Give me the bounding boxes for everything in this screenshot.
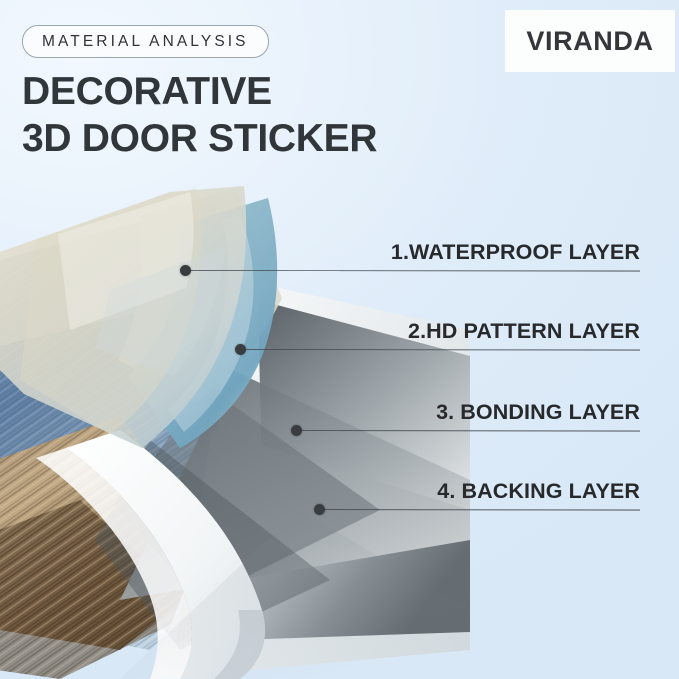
layer-dot-2[interactable] (235, 344, 246, 355)
brand-name: VIRANDA (526, 26, 653, 57)
callout-hd-pattern-layer: 2.HD PATTERN LAYER (339, 311, 679, 351)
eyebrow-label: MATERIAL ANALYSIS (42, 33, 249, 51)
brand-logo-box: VIRANDA (505, 10, 675, 72)
leader-line-4 (324, 509, 640, 510)
layer-dot-3[interactable] (291, 425, 302, 436)
layer-dot-1[interactable] (180, 265, 191, 276)
callout-label-1: 1.WATERPROOF LAYER (391, 240, 640, 265)
callout-label-4: 4. BACKING LAYER (437, 479, 640, 504)
page-title: DECORATIVE 3D DOOR STICKER (22, 68, 492, 162)
callout-rule-2 (340, 350, 640, 351)
leader-line-2 (245, 349, 640, 350)
title-line-2: 3D DOOR STICKER (22, 115, 492, 162)
callout-waterproof-layer: 1.WATERPROOF LAYER (339, 232, 679, 272)
callout-label-3: 3. BONDING LAYER (436, 400, 640, 425)
callout-backing-layer: 4. BACKING LAYER (339, 471, 679, 511)
leader-line-3 (301, 430, 640, 431)
eyebrow-badge: MATERIAL ANALYSIS (22, 25, 269, 58)
callout-rule-4 (340, 510, 640, 511)
title-line-1: DECORATIVE (22, 70, 272, 113)
callout-rule-1 (340, 271, 640, 272)
leader-line-1 (190, 270, 640, 271)
layer-dot-4[interactable] (314, 504, 325, 515)
callout-label-2: 2.HD PATTERN LAYER (408, 319, 640, 344)
poster-canvas: MATERIAL ANALYSIS DECORATIVE 3D DOOR STI… (0, 0, 679, 679)
callout-bonding-layer: 3. BONDING LAYER (339, 392, 679, 432)
callout-rule-3 (340, 431, 640, 432)
